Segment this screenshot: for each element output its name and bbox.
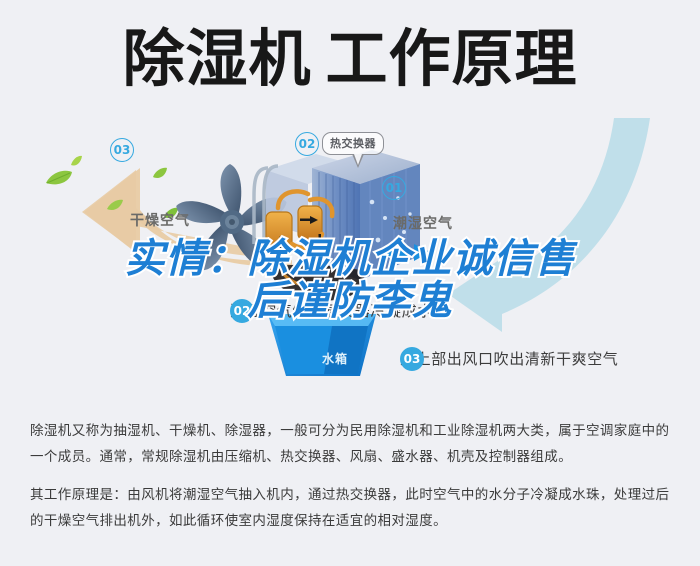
leaf-icon bbox=[152, 166, 168, 180]
step-text-02: 潮湿空气经过蒸发器冷凝成水珠 bbox=[230, 300, 448, 321]
infographic-page: 除湿机工作原理 bbox=[0, 0, 700, 566]
callout-tail bbox=[352, 154, 364, 168]
step-badge-03: 03 bbox=[400, 347, 424, 371]
dry-air-label: 干燥空气 bbox=[130, 210, 190, 230]
water-tank-label: 水箱 bbox=[322, 350, 348, 367]
badge-02-heat-exchanger: 02 bbox=[295, 132, 319, 156]
leaf-icon bbox=[69, 154, 83, 168]
dehumidifier-diagram: 水箱 03 干燥空气 02 热交换器 01 潮湿空气 02 潮湿空气经过蒸发器冷… bbox=[0, 110, 700, 410]
body-paragraph-1: 除湿机又称为抽湿机、干燥机、除湿器，一般可分为民用除湿机和工业除湿机两大类，属于… bbox=[30, 418, 675, 470]
badge-01-humid-air: 01 bbox=[382, 176, 406, 200]
step-badge-02: 02 bbox=[230, 299, 254, 323]
heat-exchanger-callout: 热交换器 bbox=[322, 132, 384, 155]
step-line-03: 03 从上部出风口吹出清新干爽空气 bbox=[400, 348, 618, 369]
body-paragraph-2: 其工作原理是：由风机将潮湿空气抽入机内，通过热交换器，此时空气中的水分子冷凝成水… bbox=[30, 482, 675, 534]
title-part-1: 除湿机 bbox=[122, 22, 311, 95]
article-body: 除湿机又称为抽湿机、干燥机、除湿器，一般可分为民用除湿机和工业除湿机两大类，属于… bbox=[30, 418, 675, 546]
humid-air-label: 潮湿空气 bbox=[393, 213, 453, 233]
step-text-03: 从上部出风口吹出清新干爽空气 bbox=[400, 348, 618, 369]
page-title: 除湿机工作原理 bbox=[0, 26, 700, 92]
step-line-02: 02 潮湿空气经过蒸发器冷凝成水珠 bbox=[230, 300, 448, 321]
title-part-2: 工作原理 bbox=[326, 22, 578, 95]
badge-03-dry-air: 03 bbox=[110, 138, 134, 162]
leaf-icon bbox=[44, 168, 74, 188]
leaf-icon bbox=[106, 198, 124, 212]
